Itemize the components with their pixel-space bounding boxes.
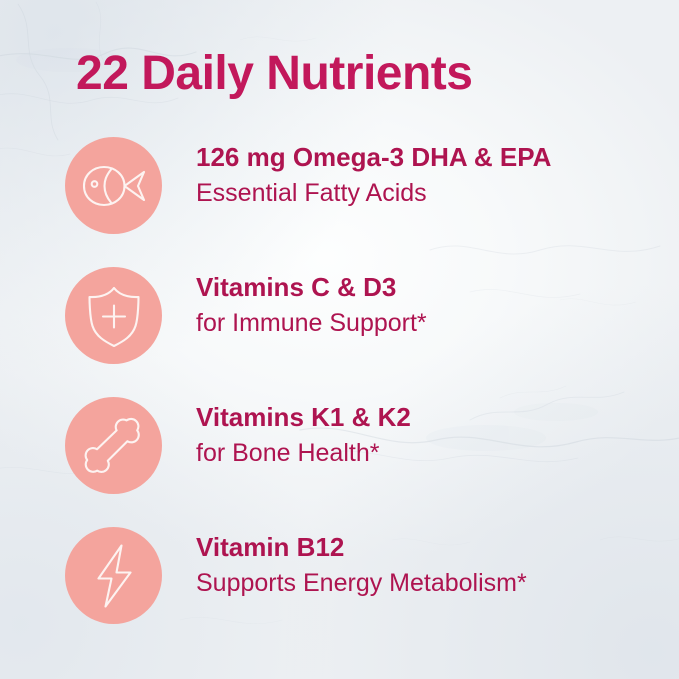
list-item: Vitamins K1 & K2 for Bone Health* [0, 394, 679, 524]
nutrient-text: Vitamin B12 Supports Energy Metabolism* [196, 530, 666, 600]
nutrient-text: Vitamins C & D3 for Immune Support* [196, 270, 666, 340]
nutrient-primary-label: Vitamin B12 [196, 530, 666, 564]
shield-plus-icon [86, 285, 142, 347]
nutrient-secondary-label: Supports Energy Metabolism* [196, 566, 666, 600]
list-item: Vitamin B12 Supports Energy Metabolism* [0, 524, 679, 654]
list-item: Vitamins C & D3 for Immune Support* [0, 264, 679, 394]
bone-icon [83, 415, 145, 477]
nutrient-text: 126 mg Omega-3 DHA & EPA Essential Fatty… [196, 140, 666, 210]
nutrient-secondary-label: for Immune Support* [196, 306, 666, 340]
page-title: 22 Daily Nutrients [76, 46, 472, 101]
nutrient-secondary-label: Essential Fatty Acids [196, 176, 666, 210]
nutrient-icon-badge [65, 137, 162, 234]
fish-icon [81, 161, 147, 211]
nutrient-text: Vitamins K1 & K2 for Bone Health* [196, 400, 666, 470]
nutrient-primary-label: Vitamins C & D3 [196, 270, 666, 304]
nutrient-infographic: 22 Daily Nutrients 126 mg Omeg [0, 0, 679, 679]
nutrient-primary-label: 126 mg Omega-3 DHA & EPA [196, 140, 666, 174]
nutrient-icon-badge [65, 527, 162, 624]
nutrient-icon-badge [65, 267, 162, 364]
list-item: 126 mg Omega-3 DHA & EPA Essential Fatty… [0, 134, 679, 264]
lightning-bolt-icon [92, 543, 136, 609]
nutrient-primary-label: Vitamins K1 & K2 [196, 400, 666, 434]
nutrient-secondary-label: for Bone Health* [196, 436, 666, 470]
nutrient-icon-badge [65, 397, 162, 494]
nutrient-list: 126 mg Omega-3 DHA & EPA Essential Fatty… [0, 134, 679, 654]
